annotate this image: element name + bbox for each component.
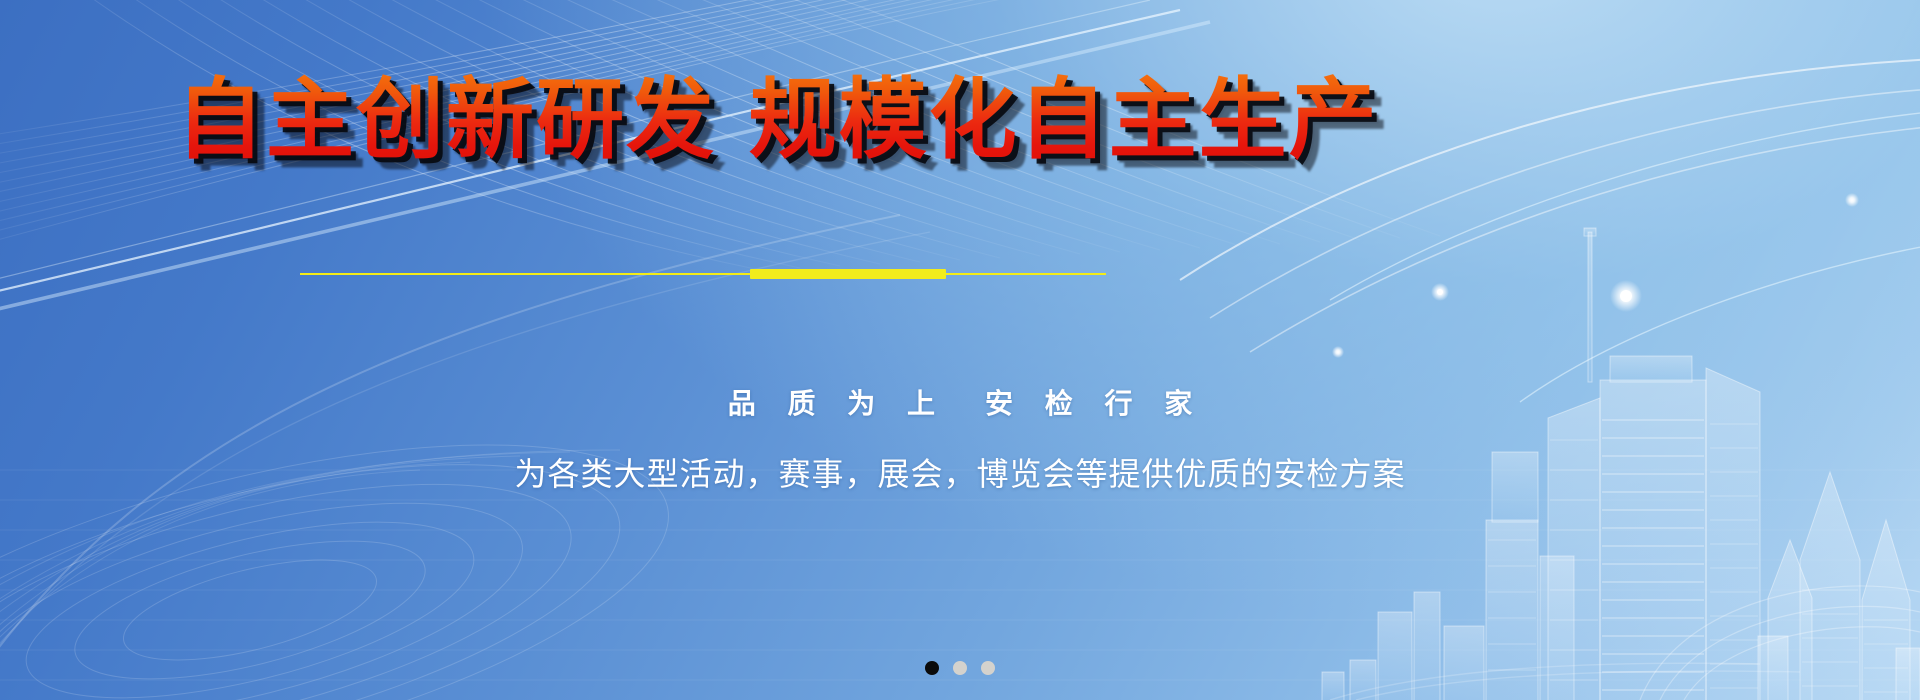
carousel-dot-3[interactable]: [981, 661, 995, 675]
hero-banner: 自主创新研发 规模化自主生产 品 质 为 上 安 检 行 家 为各类大型活动，赛…: [0, 0, 1920, 700]
yellow-divider: [300, 269, 1106, 279]
banner-subtitle-secondary: 为各类大型活动，赛事，展会，博览会等提供优质的安检方案: [0, 449, 1920, 495]
headline-container: 自主创新研发 规模化自主生产: [0, 72, 1920, 167]
divider-thin-line: [300, 273, 1106, 275]
banner-headline: 自主创新研发 规模化自主生产: [176, 72, 1379, 167]
divider-thick-segment: [750, 269, 946, 279]
banner-subtitle-primary: 品 质 为 上 安 检 行 家: [0, 382, 1920, 422]
carousel-dots: [0, 661, 1920, 675]
carousel-dot-1[interactable]: [925, 661, 939, 675]
carousel-dot-2[interactable]: [953, 661, 967, 675]
